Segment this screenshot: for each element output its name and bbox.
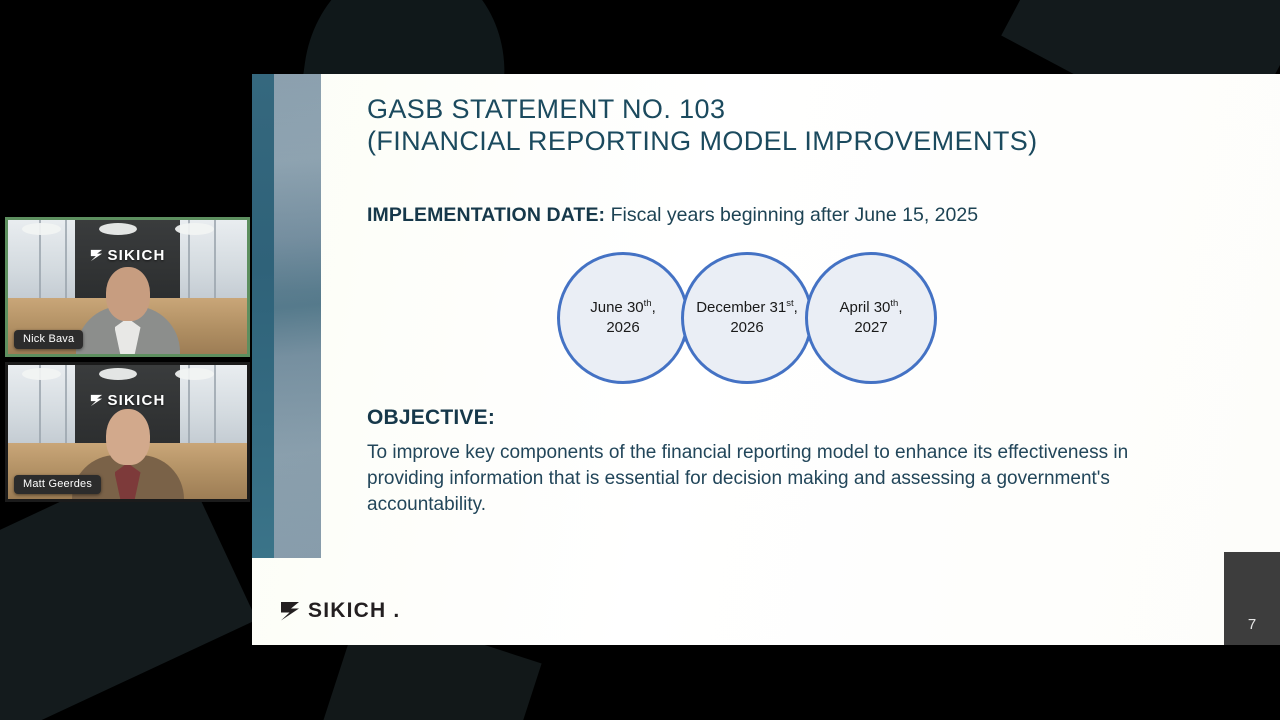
sikich-wall-logo: SIKICH — [89, 392, 165, 409]
page-number: 7 — [1224, 616, 1280, 633]
slide-accent-bar-photo — [274, 74, 321, 558]
ceiling-light — [175, 368, 213, 380]
timeline-step-2-ordinal: st — [786, 298, 793, 309]
screen-root: SIKICH Nick Bava SIKICH — [0, 0, 1280, 720]
timeline-step-1: June 30th, 2026 — [557, 252, 689, 384]
implementation-date-label: IMPLEMENTATION DATE: — [367, 204, 605, 226]
timeline-step-2-comma: , — [794, 299, 798, 316]
sikich-chevron-icon — [279, 599, 301, 623]
implementation-date-line: IMPLEMENTATION DATE: Fiscal years beginn… — [367, 204, 1227, 227]
slide-content: GASB STATEMENT NO. 103 (FINANCIAL REPORT… — [367, 74, 1280, 645]
participant-name-label: Nick Bava — [14, 330, 83, 349]
timeline-step-1-comma: , — [652, 299, 656, 316]
participant-tile-matt-geerdes[interactable]: SIKICH Matt Geerdes — [5, 362, 250, 502]
ceiling-light — [175, 223, 213, 235]
ceiling-light — [99, 368, 137, 380]
slide-title-line-2: (FINANCIAL REPORTING MODEL IMPROVEMENTS) — [367, 126, 1207, 158]
objective-text: To improve key components of the financi… — [367, 440, 1192, 518]
slide-title: GASB STATEMENT NO. 103 (FINANCIAL REPORT… — [367, 94, 1207, 158]
window-mullion — [214, 220, 216, 303]
timeline-step-1-ordinal: th — [644, 298, 652, 309]
participant-face — [106, 409, 150, 465]
participant-face — [106, 267, 150, 321]
page-number-block: 7 — [1224, 552, 1280, 645]
sikich-chevron-icon — [89, 248, 102, 263]
timeline-step-1-month: June 30 — [590, 299, 643, 316]
participant-name-label: Matt Geerdes — [14, 475, 101, 494]
timeline-step-3-month: April 30 — [840, 299, 891, 316]
sikich-chevron-icon — [89, 393, 102, 408]
window-mullion — [65, 220, 67, 303]
shared-slide[interactable]: GASB STATEMENT NO. 103 (FINANCIAL REPORT… — [252, 74, 1280, 645]
timeline-step-1-year: 2026 — [606, 319, 639, 336]
timeline-step-3-year: 2027 — [854, 319, 887, 336]
timeline-step-2-month: December 31 — [696, 299, 786, 316]
sikich-wall-logo-text: SIKICH — [107, 392, 165, 409]
window-mullion — [65, 365, 67, 448]
sikich-wall-logo-text: SIKICH — [107, 247, 165, 264]
slide-footer-logo: SIKICH . — [279, 599, 399, 623]
slide-title-line-1: GASB STATEMENT NO. 103 — [367, 94, 1207, 126]
slide-accent-bar-teal — [252, 74, 274, 558]
ceiling-light — [22, 368, 60, 380]
timeline-step-3-comma: , — [898, 299, 902, 316]
sikich-wall-logo: SIKICH — [89, 247, 165, 264]
timeline-step-3: April 30th, 2027 — [805, 252, 937, 384]
window-mullion — [214, 365, 216, 448]
timeline-step-2-year: 2026 — [730, 319, 763, 336]
participant-tile-nick-bava[interactable]: SIKICH Nick Bava — [5, 217, 250, 357]
ceiling-light — [22, 223, 60, 235]
objective-label: OBJECTIVE: — [367, 406, 495, 430]
timeline-diagram: June 30th, 2026 December 31st, 2026 Apri… — [557, 252, 937, 397]
slide-footer-logo-text: SIKICH — [308, 599, 386, 623]
slide-footer-logo-dot: . — [393, 599, 399, 623]
implementation-date-value: Fiscal years beginning after June 15, 20… — [611, 204, 978, 226]
timeline-step-2: December 31st, 2026 — [681, 252, 813, 384]
ceiling-light — [99, 223, 137, 235]
